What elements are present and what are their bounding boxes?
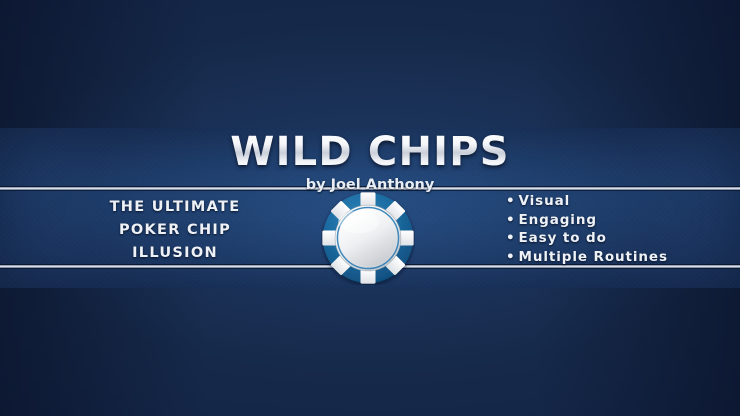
tagline-line-3: ILLUSION	[60, 242, 290, 265]
feature-item: •Visual	[506, 192, 726, 211]
tagline-line-1: THE ULTIMATE	[60, 196, 290, 219]
tagline-block: THE ULTIMATE POKER CHIP ILLUSION	[60, 196, 290, 265]
poker-chip-icon	[321, 191, 415, 285]
feature-label: Engaging	[519, 212, 597, 228]
bullet-icon: •	[506, 248, 516, 267]
features-list: •Visual •Engaging •Easy to do •Multiple …	[506, 192, 726, 266]
tagline-line-2: POKER CHIP	[60, 219, 290, 242]
banner-image: WILD CHIPS by Joel Anthony THE ULTIMATE …	[0, 0, 740, 416]
bullet-icon: •	[506, 192, 516, 211]
title-block: WILD CHIPS by Joel Anthony	[0, 130, 740, 194]
product-title: WILD CHIPS	[0, 130, 740, 174]
feature-label: Visual	[519, 193, 571, 209]
feature-item: •Multiple Routines	[506, 248, 726, 267]
feature-label: Easy to do	[519, 230, 607, 246]
bullet-icon: •	[506, 211, 516, 230]
feature-item: •Easy to do	[506, 229, 726, 248]
feature-label: Multiple Routines	[519, 249, 668, 265]
feature-item: •Engaging	[506, 211, 726, 230]
bullet-icon: •	[506, 229, 516, 248]
